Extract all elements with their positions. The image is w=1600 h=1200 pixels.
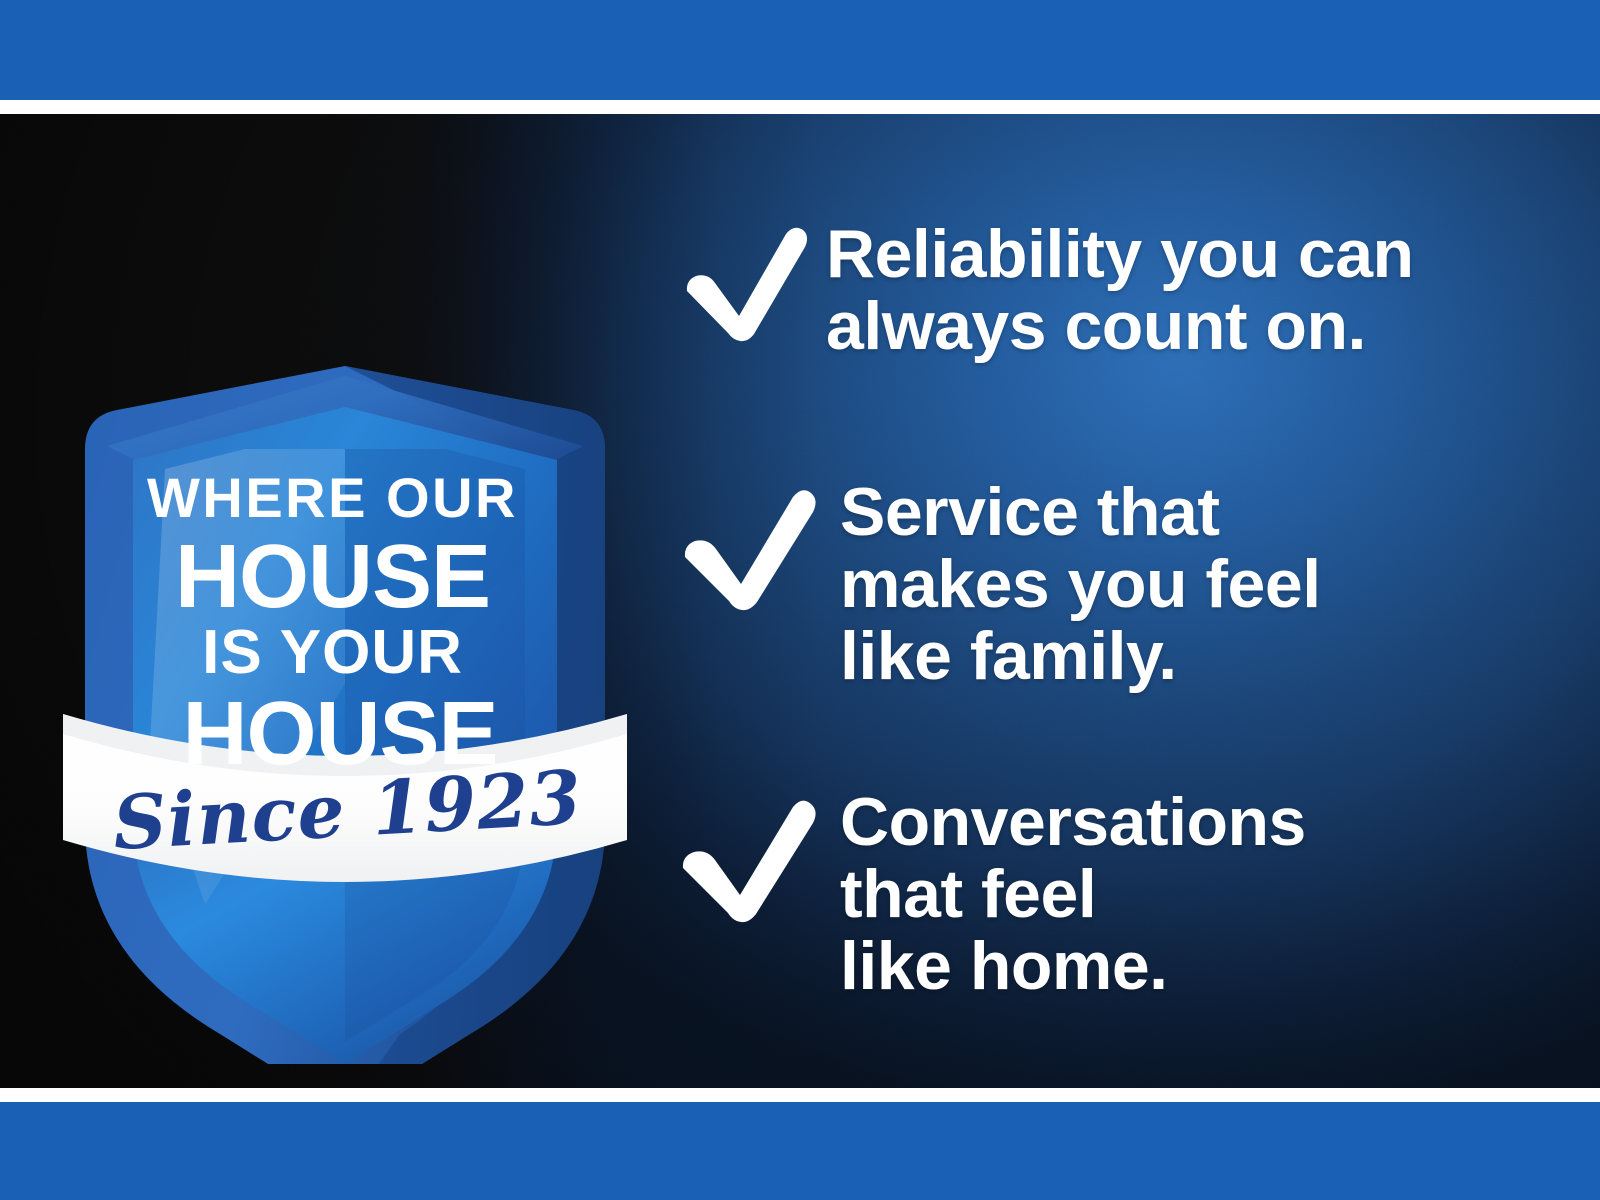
benefit-text-2: Service that makes you feel like family. xyxy=(840,476,1520,692)
bottom-brand-bar xyxy=(0,1102,1600,1200)
benefit-text-1: Reliability you can always count on. xyxy=(826,218,1526,362)
benefits-list: Reliability you can always count on. Ser… xyxy=(0,114,1600,1088)
checkmark-icon xyxy=(678,799,820,923)
checkmark-icon xyxy=(682,226,810,342)
top-brand-bar xyxy=(0,0,1600,100)
checkmark-icon xyxy=(680,489,820,611)
promo-graphic-canvas: WHERE OUR HOUSE IS YOUR HOUSE Since 1923… xyxy=(0,0,1600,1200)
bottom-white-divider xyxy=(0,1088,1600,1102)
main-stage: WHERE OUR HOUSE IS YOUR HOUSE Since 1923… xyxy=(0,114,1600,1088)
benefit-text-3: Conversations that feel like home. xyxy=(840,786,1540,1002)
top-white-divider xyxy=(0,100,1600,114)
